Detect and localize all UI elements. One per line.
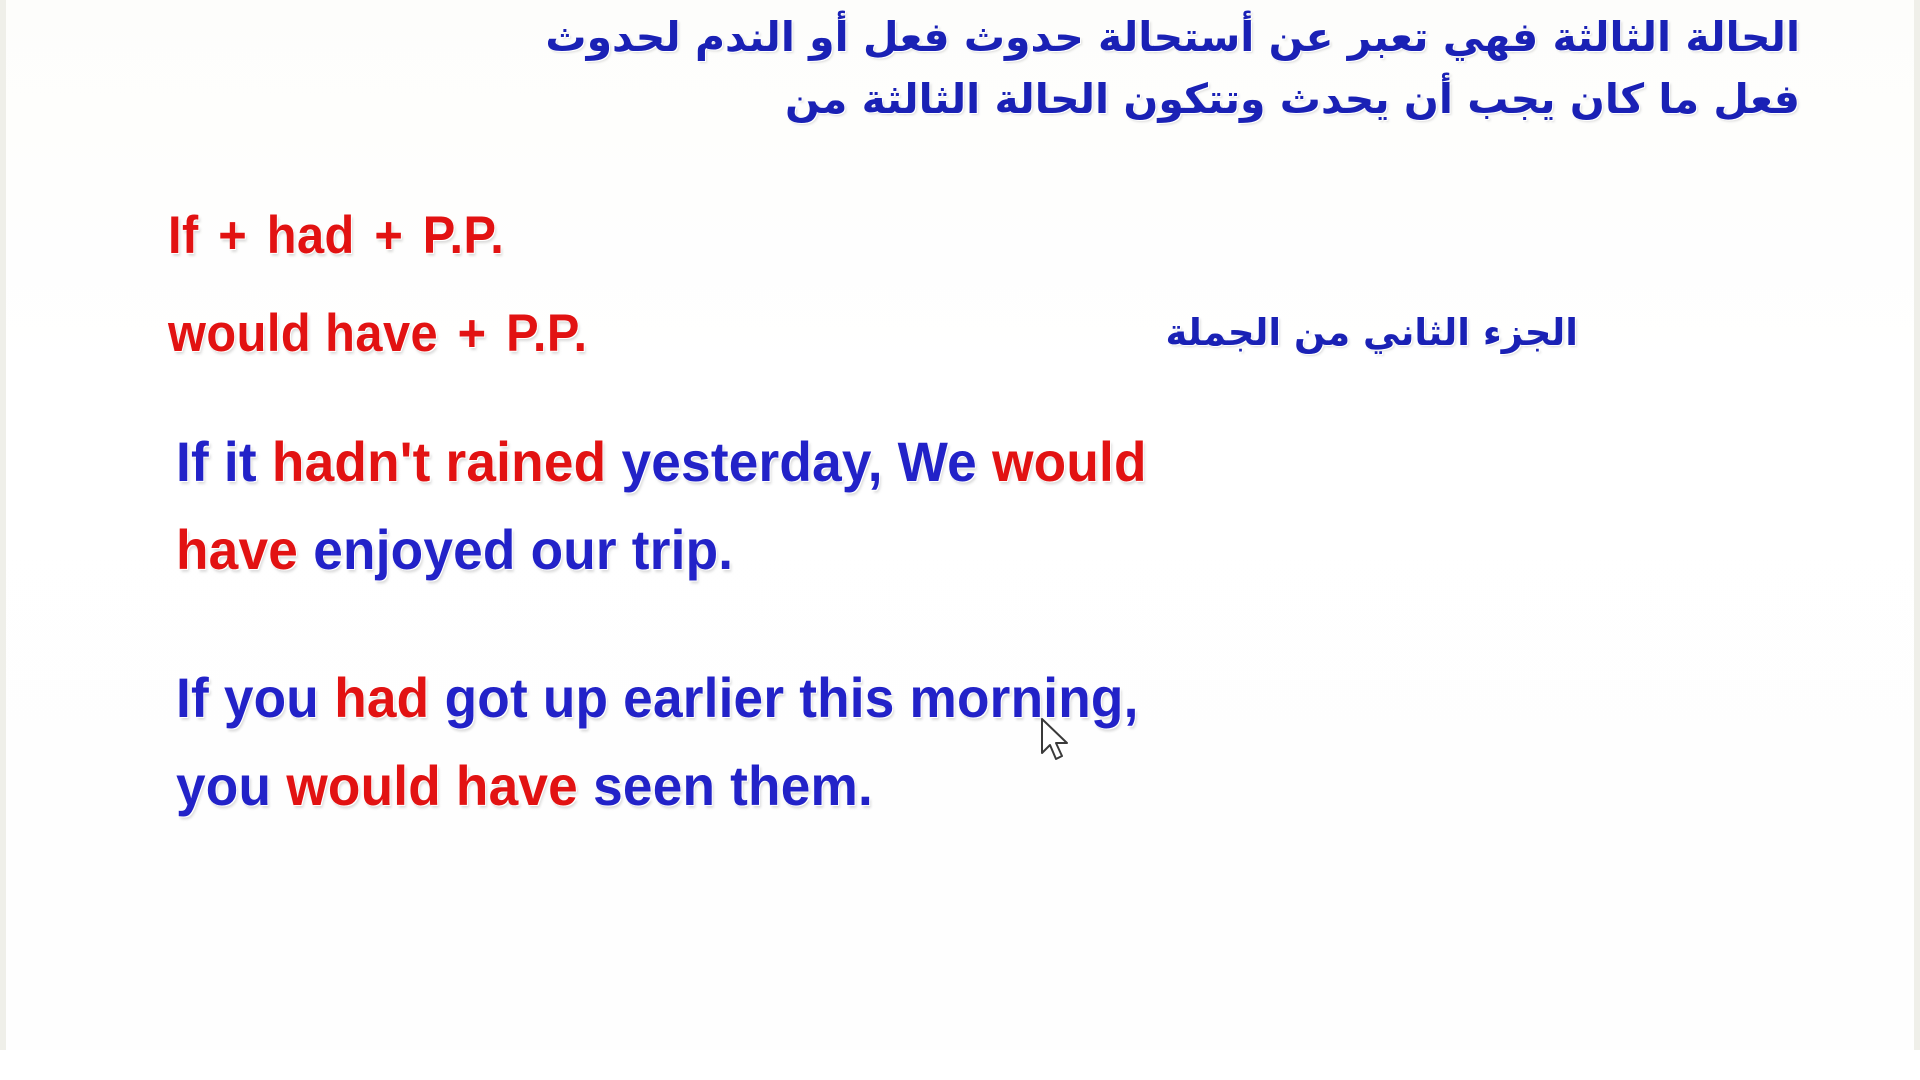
example-2-seg-1: If you bbox=[176, 666, 319, 729]
frame-edge-left bbox=[0, 0, 6, 1080]
example-2-line-2: youwould haveseen them. bbox=[176, 742, 1791, 830]
example-2-seg-4: you bbox=[176, 754, 271, 817]
arabic-intro-line-1: الحالة الثالثة فهي تعبر عن أستحالة حدوث … bbox=[170, 6, 1800, 68]
formula-token-had: had bbox=[267, 206, 355, 265]
frame-edge-right bbox=[1914, 0, 1920, 1080]
arabic-second-part-label: الجزء الثاني من الجملة bbox=[1165, 311, 1578, 354]
arabic-intro-paragraph: الحالة الثالثة فهي تعبر عن أستحالة حدوث … bbox=[170, 6, 1800, 130]
example-1-seg-6: enjoyed our trip. bbox=[313, 518, 733, 581]
example-1-line-2: haveenjoyed our trip. bbox=[176, 506, 1791, 594]
formula-block: If + had + P.P. would have + P.P. الجزء … bbox=[168, 205, 1828, 401]
example-2-seg-3: got up earlier this morning, bbox=[445, 666, 1139, 729]
examples-block: If ithadn't rainedyesterday, Wewould hav… bbox=[176, 418, 1876, 890]
formula-row-main-clause: would have + P.P. الجزء الثاني من الجملة bbox=[168, 303, 1828, 401]
formula-token-pp: P.P. bbox=[423, 206, 504, 265]
example-2-seg-5: would have bbox=[286, 754, 578, 817]
example-2-line-1: If youhadgot up earlier this morning, bbox=[176, 654, 1791, 742]
example-1-seg-1: If it bbox=[176, 430, 257, 493]
formula-plus-1: + bbox=[213, 206, 253, 265]
formula-token-pp-2: P.P. bbox=[506, 304, 587, 363]
formula-row-if-clause: If + had + P.P. bbox=[168, 205, 1828, 303]
frame-edge-bottom bbox=[0, 1050, 1920, 1080]
arabic-intro-line-2: فعل ما كان يجب أن يحدث وتتكون الحالة الث… bbox=[170, 68, 1800, 130]
formula-plus-3: + bbox=[452, 304, 492, 363]
formula-token-would-have: would have bbox=[168, 304, 438, 363]
example-2-seg-2: had bbox=[334, 666, 429, 729]
formula-plus-2: + bbox=[369, 206, 409, 265]
formula-token-if: If bbox=[168, 206, 199, 265]
example-1-seg-4: would bbox=[992, 430, 1147, 493]
example-1-seg-2: hadn't rained bbox=[272, 430, 606, 493]
example-2-seg-6: seen them. bbox=[593, 754, 873, 817]
example-1-seg-3: yesterday, We bbox=[621, 430, 976, 493]
formula-would-have-pp: would have + P.P. bbox=[168, 303, 588, 364]
example-1-seg-5: have bbox=[176, 518, 298, 581]
formula-if-had-pp: If + had + P.P. bbox=[168, 205, 504, 266]
example-1-line-1: If ithadn't rainedyesterday, Wewould bbox=[176, 418, 1791, 506]
example-2: If youhadgot up earlier this morning, yo… bbox=[176, 654, 1876, 830]
lesson-slide: الحالة الثالثة فهي تعبر عن أستحالة حدوث … bbox=[0, 0, 1920, 1080]
example-1: If ithadn't rainedyesterday, Wewould hav… bbox=[176, 418, 1876, 594]
